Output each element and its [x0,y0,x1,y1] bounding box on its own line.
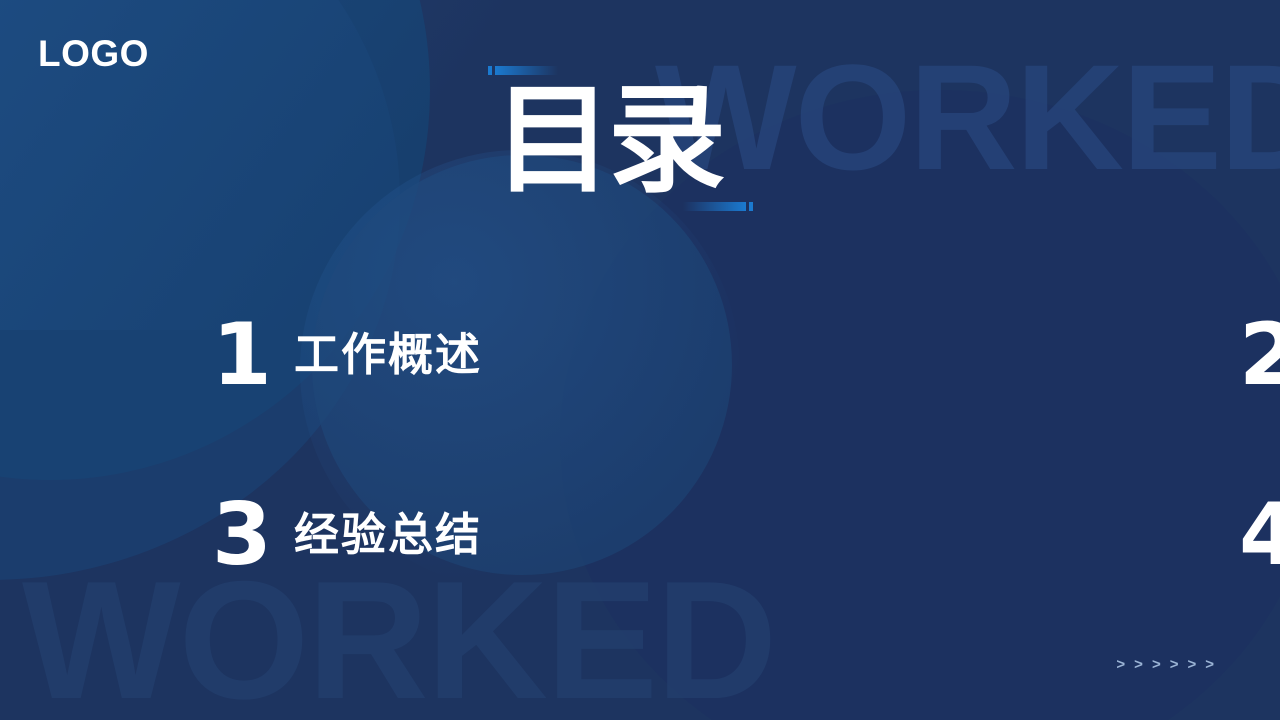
chevron-group: > > > > > > [1116,657,1214,672]
presentation-slide: WORKED WORKED LOGO 目录 1 工作概述 2 成果展示 3 经验… [0,0,1280,720]
page-title: 目录 [494,82,722,200]
chevron-right-icon: > [1134,657,1143,672]
toc-item-number: 2 [1239,312,1280,398]
chevron-right-icon: > [1205,657,1214,672]
toc-item-number: 3 [212,492,274,578]
toc-item-number: 4 [1239,492,1280,578]
toc-item-label: 工作概述 [294,329,482,381]
accent-bar-bottom [683,202,753,211]
toc-item-3[interactable]: 3 经验总结 [0,445,482,625]
accent-gradient-icon [683,202,746,211]
toc-item-label: 经验总结 [294,509,482,561]
chevron-right-icon: > [1116,657,1125,672]
toc-item-4[interactable]: 4 工作计划 [482,445,1280,625]
table-of-contents: 1 工作概述 2 成果展示 3 经验总结 4 工作计划 [0,265,1280,625]
toc-item-2[interactable]: 2 成果展示 [482,265,1280,445]
toc-item-number: 1 [212,312,274,398]
logo: LOGO [38,33,149,75]
slide-title-block: 目录 [488,62,778,222]
accent-bar-top [488,66,558,75]
chevron-right-icon: > [1170,657,1179,672]
accent-gradient-icon [495,66,558,75]
accent-tick-icon [488,66,492,75]
accent-tick-icon [749,202,753,211]
chevron-right-icon: > [1152,657,1161,672]
chevron-right-icon: > [1187,657,1196,672]
toc-item-1[interactable]: 1 工作概述 [0,265,482,445]
